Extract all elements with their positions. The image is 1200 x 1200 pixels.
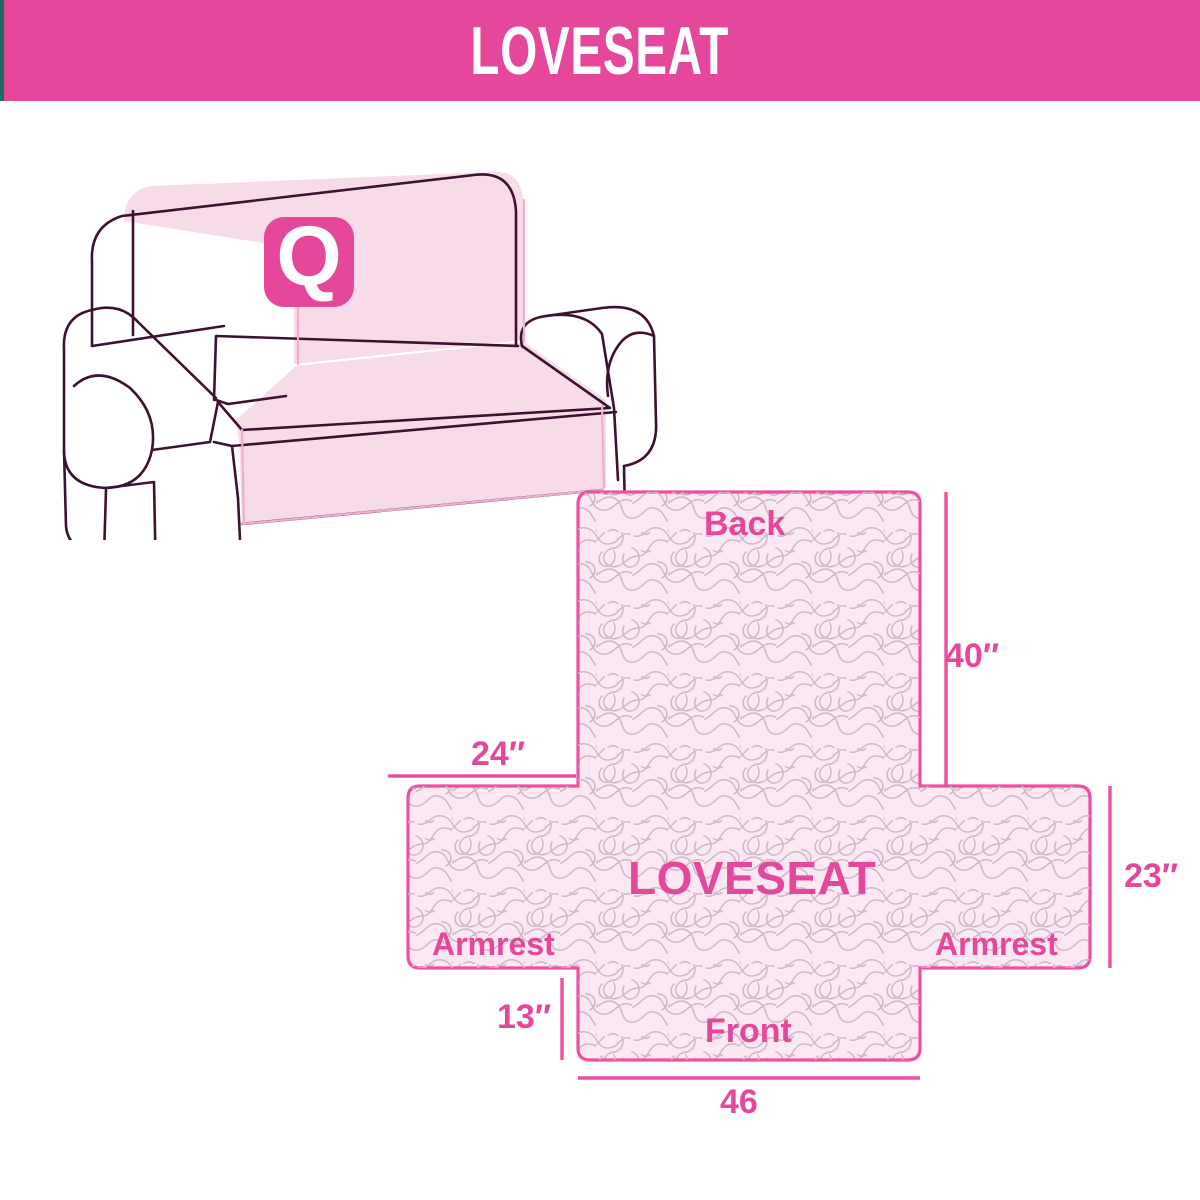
brand-logo: Q [264,209,354,307]
dimension-label-back-height: 40″ [945,639,999,673]
svg-text:Q: Q [276,209,341,303]
dimension-label-back-width: 24″ [471,737,525,771]
dimension-label-front-drop: 13″ [497,1000,551,1034]
header-banner: LOVESEAT [0,0,1200,101]
page-title: LOVESEAT [471,17,730,85]
panel-label-armrest-right: Armrest [935,928,1058,960]
page-root: LOVESEAT [0,0,1200,1200]
panel-label-center: LOVESEAT [628,855,877,901]
panel-label-front: Front [705,1014,792,1048]
banner-left-edge-strip [0,0,4,101]
panel-label-armrest-left: Armrest [432,928,555,960]
dimension-label-seat-depth: 23″ [1124,859,1178,893]
panel-label-back: Back [704,507,785,541]
dimension-label-overall-width: 46 [720,1085,758,1119]
